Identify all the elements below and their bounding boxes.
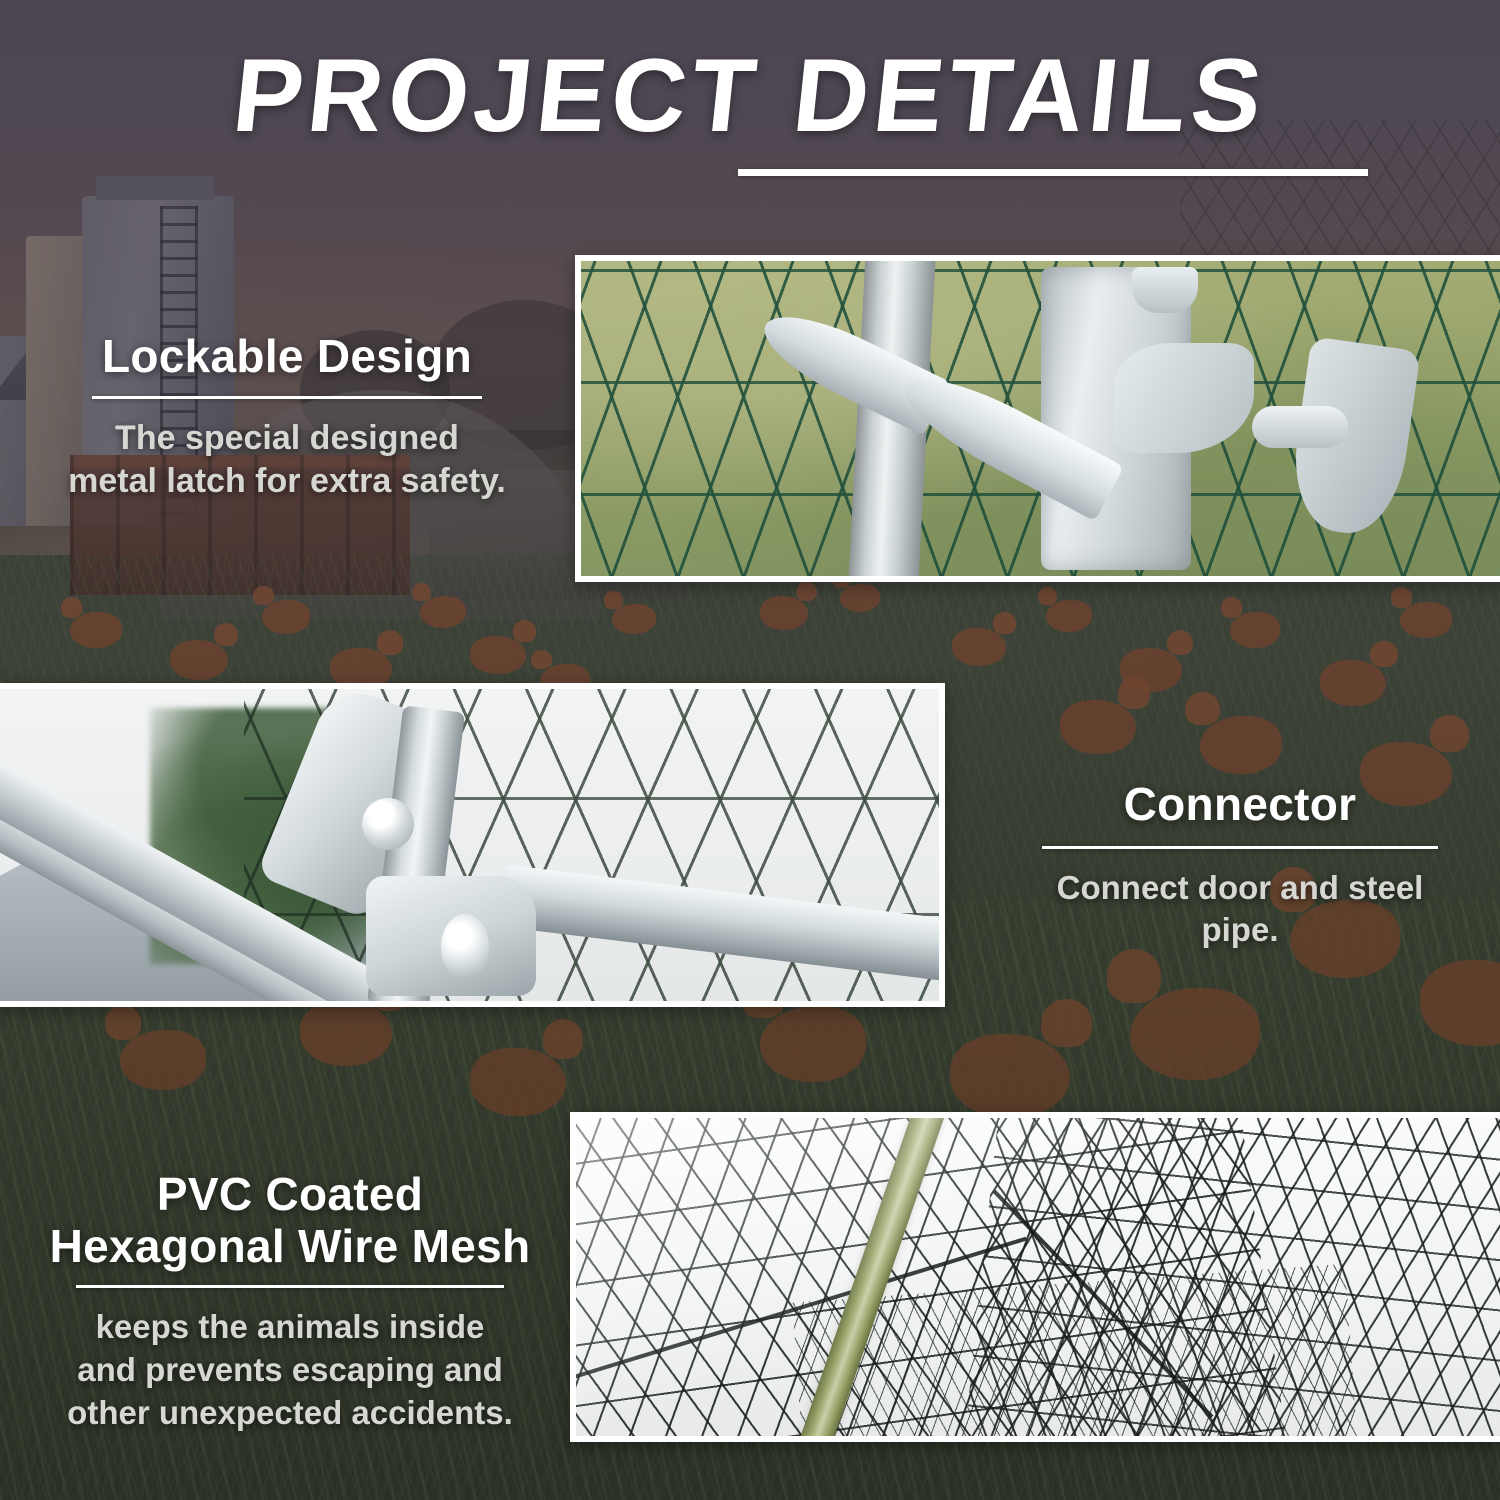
feature-heading-pvc-mesh: PVC Coated Hexagonal Wire Mesh: [40, 1168, 540, 1273]
feature-block-pvc-mesh: PVC Coated Hexagonal Wire Mesh keeps the…: [40, 1168, 540, 1435]
feature-divider: [1042, 846, 1438, 849]
feature-image-pvc-mesh: [570, 1112, 1500, 1442]
feature-block-lockable-design: Lockable Design The special designed met…: [62, 330, 512, 502]
title-divider: [738, 169, 1368, 176]
feature-body-lockable-design: The special designed metal latch for ext…: [62, 417, 512, 502]
heading-line: PVC Coated: [157, 1168, 423, 1220]
body-line: Connect door and steel pipe.: [1057, 869, 1424, 947]
feature-heading-connector: Connector: [1020, 778, 1460, 830]
page-title: PROJECT DETAILS: [0, 42, 1500, 151]
body-line: metal latch for extra safety.: [68, 462, 506, 500]
bracket-pin: [362, 798, 414, 850]
body-line: The special designed: [115, 419, 459, 457]
mesh-photo: [576, 1118, 1500, 1436]
body-line: and prevents escaping and: [77, 1351, 502, 1388]
feature-image-connector: [0, 683, 945, 1007]
latch-bolt: [1252, 406, 1348, 448]
tee-pin: [441, 914, 489, 980]
feature-body-connector: Connect door and steel pipe.: [1020, 867, 1460, 950]
sheen: [576, 1118, 1500, 1436]
body-line: other unexpected accidents.: [67, 1394, 513, 1431]
latch-photo: [581, 261, 1500, 576]
feature-body-pvc-mesh: keeps the animals inside and prevents es…: [40, 1306, 540, 1435]
feature-block-connector: Connector Connect door and steel pipe.: [1020, 778, 1460, 950]
feature-image-lockable-design: [575, 255, 1500, 582]
feature-divider: [92, 396, 482, 399]
body-line: keeps the animals inside: [96, 1308, 485, 1345]
latch-tab: [1132, 267, 1198, 313]
heading-line: Hexagonal Wire Mesh: [50, 1220, 531, 1272]
feature-divider: [76, 1285, 504, 1288]
feature-heading-lockable-design: Lockable Design: [62, 330, 512, 382]
infographic-canvas: PROJECT DETAILS: [0, 0, 1500, 1500]
connector-photo: [0, 689, 939, 1001]
